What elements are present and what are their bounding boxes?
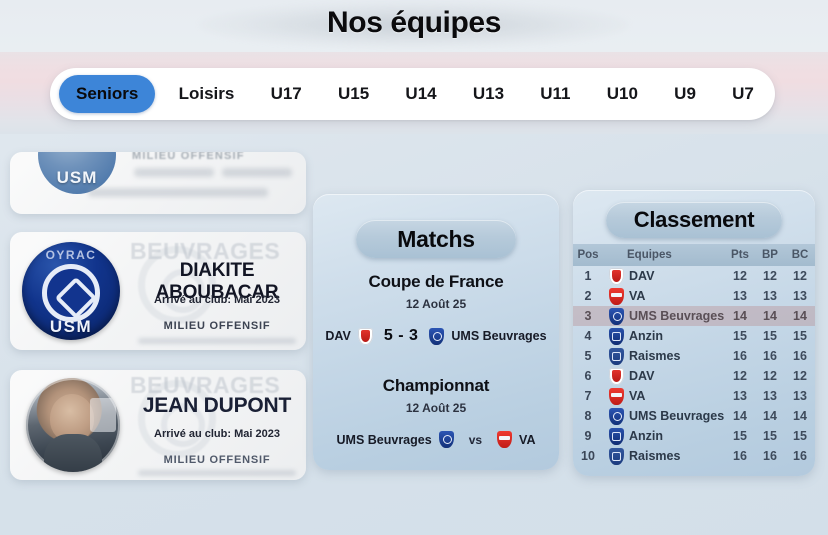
team-cell: Anzin	[609, 328, 725, 345]
row-points: 14	[725, 406, 755, 426]
row-position: 2	[573, 286, 603, 306]
row-position: 6	[573, 366, 603, 386]
row-bp: 16	[755, 446, 785, 466]
team-name: UMS Beuvrages	[629, 409, 724, 423]
row-team: Raismes	[603, 346, 725, 366]
row-points: 16	[725, 346, 755, 366]
standings-panel: Classement Pos Equipes Pts BP BC 1DAV121…	[573, 190, 815, 476]
away-team-name: UMS Beuvrages	[451, 329, 546, 343]
anz-crest-icon	[609, 428, 624, 445]
row-team: Anzin	[603, 326, 725, 346]
team-cell: VA	[609, 388, 725, 405]
standings-header-row: Pos Equipes Pts BP BC	[573, 244, 815, 266]
team-cell: Raismes	[609, 348, 725, 365]
row-position: 10	[573, 446, 603, 466]
match-score-row: UMS Beuvrages vs VA	[313, 431, 559, 448]
standings-table-head: Pos Equipes Pts BP BC	[573, 244, 815, 266]
fixture-coupe-de-france[interactable]: Coupe de France 12 Août 25 DAV 5 - 3 UMS…	[313, 272, 559, 345]
match-score: 5 - 3	[384, 327, 419, 345]
row-bc: 16	[785, 346, 815, 366]
team-name: UMS Beuvrages	[629, 309, 724, 323]
row-bc: 14	[785, 306, 815, 326]
row-points: 15	[725, 426, 755, 446]
standings-panel-header: Classement	[606, 202, 782, 238]
standings-table-wrap: Pos Equipes Pts BP BC 1DAV1212122VA13131…	[573, 244, 815, 466]
row-points: 15	[725, 326, 755, 346]
ums-crest-icon	[429, 328, 444, 345]
table-row[interactable]: 2VA131313	[573, 286, 815, 306]
page-title: Nos équipes	[0, 6, 828, 40]
rai-crest-icon	[609, 448, 624, 465]
table-row[interactable]: 6DAV121212	[573, 366, 815, 386]
row-team: DAV	[603, 266, 725, 286]
ums-crest-icon	[609, 308, 624, 325]
competition-name: Coupe de France	[313, 272, 559, 292]
nav-item-u11[interactable]: U11	[527, 77, 583, 111]
standings-header-label: Classement	[634, 207, 755, 233]
competition-name: Championnat	[313, 376, 559, 396]
player-avatar	[26, 378, 120, 472]
nav-item-u7[interactable]: U7	[719, 77, 767, 111]
column-header-bc[interactable]: BC	[785, 244, 815, 266]
row-points: 13	[725, 286, 755, 306]
table-row[interactable]: 7VA131313	[573, 386, 815, 406]
card-watermark-icon	[138, 380, 216, 458]
column-header-pts[interactable]: Pts	[725, 244, 755, 266]
row-team: VA	[603, 286, 725, 306]
nav-item-loisirs[interactable]: Loisirs	[166, 77, 248, 111]
blur-bar	[222, 168, 292, 177]
team-category-nav: SeniorsLoisirsU17U15U14U13U11U10U9U7	[50, 68, 775, 120]
photo-background-detail	[90, 398, 116, 432]
table-row[interactable]: 3UMS Beuvrages141414	[573, 306, 815, 326]
team-cell: DAV	[609, 368, 725, 385]
row-points: 12	[725, 366, 755, 386]
matches-panel: Matchs Coupe de France 12 Août 25 DAV 5 …	[313, 194, 559, 470]
va-crest-icon	[609, 288, 624, 305]
row-position: 4	[573, 326, 603, 346]
nav-item-u14[interactable]: U14	[392, 77, 449, 111]
standings-table-body: 1DAV1212122VA1313133UMS Beuvrages1414144…	[573, 266, 815, 466]
row-points: 14	[725, 306, 755, 326]
table-row[interactable]: 1DAV121212	[573, 266, 815, 286]
team-name: Anzin	[629, 329, 663, 343]
blur-bar	[88, 188, 268, 197]
team-name: DAV	[629, 269, 654, 283]
nav-item-seniors[interactable]: Seniors	[59, 75, 155, 113]
table-row[interactable]: 4Anzin151515	[573, 326, 815, 346]
standings-table: Pos Equipes Pts BP BC 1DAV1212122VA13131…	[573, 244, 815, 466]
row-bc: 13	[785, 286, 815, 306]
row-position: 8	[573, 406, 603, 426]
row-bp: 14	[755, 406, 785, 426]
row-points: 13	[725, 386, 755, 406]
row-bp: 13	[755, 386, 785, 406]
player-arrival: Arrivé au club: Mai 2023	[122, 294, 306, 306]
row-bc: 13	[785, 386, 815, 406]
player-name: JEAN DUPONT	[122, 394, 306, 418]
title-band: Nos équipes	[0, 0, 828, 52]
row-position: 7	[573, 386, 603, 406]
va-crest-icon	[497, 431, 512, 448]
player-arrival: Arrivé au club: Mai 2023	[122, 428, 306, 440]
row-position: 3	[573, 306, 603, 326]
row-bp: 15	[755, 426, 785, 446]
row-points: 16	[725, 446, 755, 466]
row-bc: 16	[785, 446, 815, 466]
card-underline	[138, 470, 296, 476]
row-points: 12	[725, 266, 755, 286]
row-team: DAV	[603, 366, 725, 386]
match-date: 12 Août 25	[313, 401, 559, 415]
card-underline	[138, 338, 296, 344]
row-team: UMS Beuvrages	[603, 406, 725, 426]
row-position: 5	[573, 346, 603, 366]
player-position: MILIEU OFFENSIF	[122, 320, 306, 332]
ums-crest-icon	[609, 408, 624, 425]
clipped-player-position: MILIEU OFFENSIF	[132, 152, 245, 162]
row-team: VA	[603, 386, 725, 406]
team-name: VA	[629, 389, 645, 403]
row-bp: 14	[755, 306, 785, 326]
fixture-championnat[interactable]: Championnat 12 Août 25 UMS Beuvrages vs …	[313, 376, 559, 448]
row-position: 9	[573, 426, 603, 446]
table-row[interactable]: 5Raismes161616	[573, 346, 815, 366]
player-card-diakite[interactable]: BEUVRAGES OYRAC USM DIAKITE ABOUBACAR Ar…	[10, 232, 306, 350]
row-bc: 12	[785, 266, 815, 286]
row-team: Raismes	[603, 446, 725, 466]
row-bp: 12	[755, 366, 785, 386]
match-score-row: DAV 5 - 3 UMS Beuvrages	[313, 327, 559, 345]
team-cell: Raismes	[609, 448, 725, 465]
soccer-ball-icon	[42, 264, 100, 322]
nav-item-u17[interactable]: U17	[258, 77, 315, 111]
nav-items: SeniorsLoisirsU17U15U14U13U11U10U9U7	[50, 68, 775, 120]
row-bp: 15	[755, 326, 785, 346]
blur-bar	[134, 168, 214, 177]
table-row[interactable]: 10Raismes161616	[573, 446, 815, 466]
dav-crest-icon	[609, 268, 624, 285]
nav-item-u10[interactable]: U10	[594, 77, 651, 111]
player-position: MILIEU OFFENSIF	[122, 454, 306, 466]
table-row[interactable]: 9Anzin151515	[573, 426, 815, 446]
usm-logo-bottom-text: USM	[22, 317, 120, 337]
team-cell: Anzin	[609, 428, 725, 445]
team-cell: VA	[609, 288, 725, 305]
matches-header-label: Matchs	[397, 226, 474, 253]
nav-item-u9[interactable]: U9	[661, 77, 709, 111]
team-name: DAV	[629, 369, 654, 383]
row-team: UMS Beuvrages	[603, 306, 725, 326]
team-cell: UMS Beuvrages	[609, 408, 725, 425]
row-bc: 15	[785, 426, 815, 446]
dav-crest-icon	[609, 368, 624, 385]
versus-label: vs	[469, 433, 482, 447]
home-team-name: UMS Beuvrages	[337, 433, 432, 447]
player-card-jean-dupont[interactable]: BEUVRAGES JEAN DUPONT Arrivé au club: Ma…	[10, 370, 306, 480]
column-header-teams[interactable]: Equipes	[603, 244, 725, 266]
team-name: Anzin	[629, 429, 663, 443]
row-bp: 13	[755, 286, 785, 306]
matches-panel-header: Matchs	[356, 220, 516, 258]
row-bc: 15	[785, 326, 815, 346]
va-crest-icon	[609, 388, 624, 405]
anz-crest-icon	[609, 328, 624, 345]
team-cell: UMS Beuvrages	[609, 308, 725, 325]
nav-item-u15[interactable]: U15	[325, 77, 382, 111]
usm-club-logo-icon: OYRAC USM	[22, 242, 120, 340]
row-position: 1	[573, 266, 603, 286]
column-header-pos[interactable]: Pos	[573, 244, 603, 266]
player-card-clipped[interactable]: USM MILIEU OFFENSIF	[10, 152, 306, 214]
rai-crest-icon	[609, 348, 624, 365]
row-team: Anzin	[603, 426, 725, 446]
ums-crest-icon	[439, 431, 454, 448]
team-name: Raismes	[629, 349, 680, 363]
match-date: 12 Août 25	[313, 297, 559, 311]
row-bp: 16	[755, 346, 785, 366]
player-cards-column: USM MILIEU OFFENSIF BEUVRAGES OYRAC USM …	[10, 152, 306, 480]
nav-item-u13[interactable]: U13	[460, 77, 517, 111]
team-name: Raismes	[629, 449, 680, 463]
table-row[interactable]: 8UMS Beuvrages141414	[573, 406, 815, 426]
team-name: VA	[629, 289, 645, 303]
dav-crest-icon	[358, 328, 373, 345]
column-header-bp[interactable]: BP	[755, 244, 785, 266]
usm-logo-top-text: OYRAC	[22, 248, 120, 262]
home-team-name: DAV	[325, 329, 350, 343]
row-bc: 12	[785, 366, 815, 386]
away-team-name: VA	[519, 433, 535, 447]
row-bp: 12	[755, 266, 785, 286]
team-cell: DAV	[609, 268, 725, 285]
row-bc: 14	[785, 406, 815, 426]
